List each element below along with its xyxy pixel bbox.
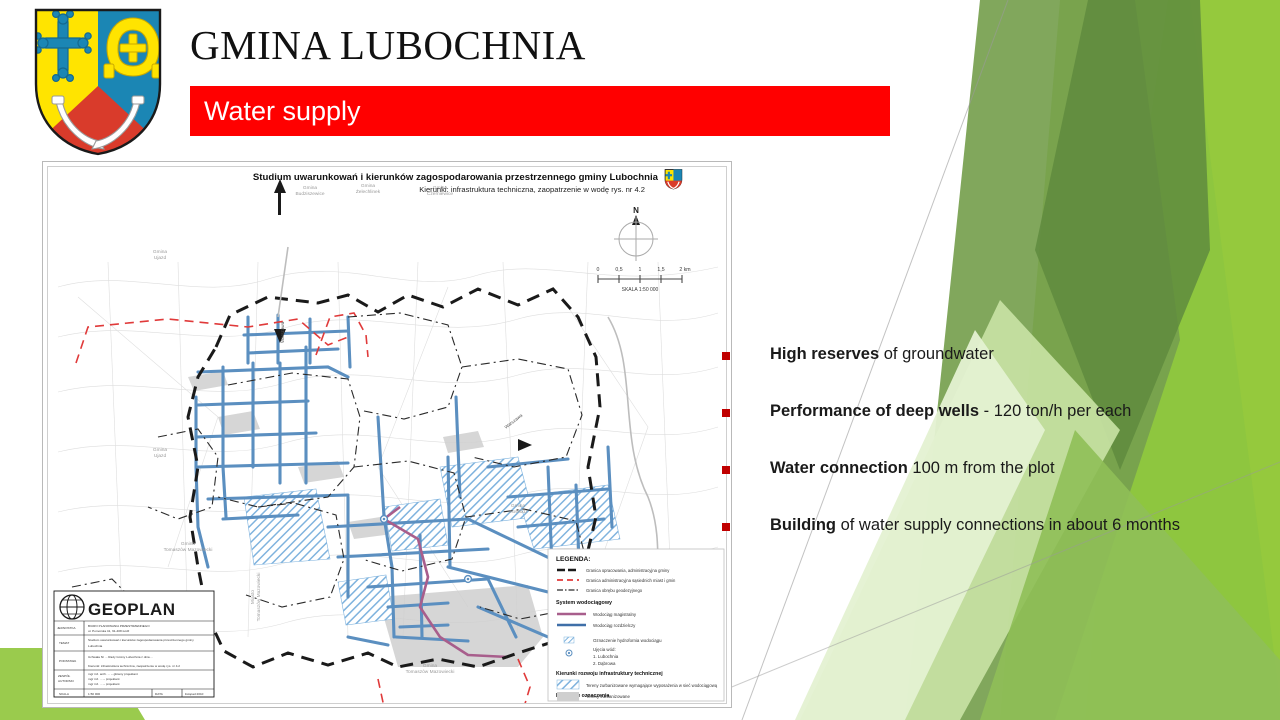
svg-text:JEDNOSTKA: JEDNOSTKA — [57, 626, 77, 630]
geoplan-logo-text: GEOPLAN — [88, 600, 176, 619]
svg-text:1:50 000: 1:50 000 — [88, 692, 100, 696]
svg-text:Warszawa: Warszawa — [280, 321, 285, 343]
bullet-rest: 100 m from the plot — [908, 459, 1055, 477]
svg-text:Granica opracowania, administr: Granica opracowania, administracyjna gmi… — [586, 568, 670, 573]
svg-text:BIURO PLANOWANIA PRZESTRZENNEG: BIURO PLANOWANIA PRZESTRZENNEGO — [88, 624, 150, 628]
svg-text:mgr inż. ... – projektant: mgr inż. ... – projektant — [88, 682, 120, 686]
svg-text:Miasto: Miasto — [250, 590, 256, 604]
list-item: Performance of deep wells - 120 ton/h pe… — [722, 401, 1267, 422]
svg-text:Ujęcia wód:: Ujęcia wód: — [593, 647, 616, 652]
bullet-square-icon — [722, 352, 730, 360]
svg-text:2 km: 2 km — [679, 267, 690, 273]
map-legend: LEGENDA: Granica opracowania, administra… — [548, 549, 724, 701]
map-drawing: Warszawa Warszawa Radom Piotrków GminaBu… — [48, 167, 726, 703]
coat-of-arms — [28, 6, 168, 158]
map-subtitle-text: Kierunki: infrastruktura techniczna, zao… — [419, 185, 645, 194]
svg-text:Oznaczenie hydrofornia wodocią: Oznaczenie hydrofornia wodociągu — [593, 638, 662, 643]
svg-text:0,5: 0,5 — [615, 267, 622, 273]
svg-text:PODSTAWA: PODSTAWA — [59, 659, 77, 663]
map-title-text: Studium uwarunkowań i kierunków zagospod… — [253, 172, 659, 183]
svg-text:Tomaszów Mazowiecki: Tomaszów Mazowiecki — [256, 573, 262, 622]
svg-text:mgr inż. ... – projektant: mgr inż. ... – projektant — [88, 677, 120, 681]
legend-heading: LEGENDA: — [556, 556, 590, 563]
bullet-text: Water connection 100 m from the plot — [770, 458, 1055, 479]
map-canvas[interactable]: Warszawa Warszawa Radom Piotrków GminaBu… — [47, 166, 727, 704]
svg-text:2. Dąbrowa: 2. Dąbrowa — [593, 661, 616, 666]
svg-text:Gmina: Gmina — [423, 663, 437, 669]
bullet-rest: of groundwater — [879, 345, 994, 363]
list-item: Building of water supply connections in … — [722, 515, 1267, 536]
legend-group-water-heading: System wodociągowy — [556, 600, 612, 606]
bullet-rest: - 120 ton/h per each — [979, 402, 1131, 420]
bullet-square-icon — [722, 466, 730, 474]
list-item: Water connection 100 m from the plot — [722, 458, 1267, 479]
svg-text:Tomaszów Mazowiecki: Tomaszów Mazowiecki — [164, 547, 213, 553]
bullet-square-icon — [722, 409, 730, 417]
bullet-text: Building of water supply connections in … — [770, 515, 1180, 536]
bullet-rest: of water supply connections in about 6 m… — [836, 516, 1180, 534]
svg-text:TEMAT: TEMAT — [59, 641, 69, 645]
svg-text:ZESPÓŁ: ZESPÓŁ — [58, 673, 70, 678]
legend-urbanised-row: Tereny zurbanizowane — [557, 692, 630, 701]
map-stamp-block: GEOPLAN JEDNOSTKA BIURO PLANOWANIA PRZES… — [54, 591, 214, 697]
svg-text:Ujazd: Ujazd — [154, 453, 167, 459]
svg-text:Gmina: Gmina — [181, 541, 195, 547]
scale-caption: SKALA 1:50 000 — [622, 287, 659, 293]
legend-urbanised-label: Tereny zurbanizowane — [586, 694, 630, 699]
svg-text:Studium uwarunkowań i kierunkó: Studium uwarunkowań i kierunków zagospod… — [88, 638, 194, 642]
svg-text:0: 0 — [597, 267, 600, 273]
svg-text:Inowłódz: Inowłódz — [509, 509, 529, 515]
svg-text:Budziszewice: Budziszewice — [295, 191, 324, 197]
svg-text:listopad 2010: listopad 2010 — [185, 692, 204, 696]
svg-text:mgr inż. arch. ... – główny pr: mgr inż. arch. ... – główny projektant — [88, 672, 138, 676]
bullet-text: Performance of deep wells - 120 ton/h pe… — [770, 401, 1131, 422]
svg-text:Gmina: Gmina — [511, 503, 525, 509]
svg-text:Gmina: Gmina — [153, 249, 167, 255]
svg-text:Tomaszów Mazowiecki: Tomaszów Mazowiecki — [406, 669, 455, 675]
bullet-square-icon — [722, 523, 730, 531]
svg-text:Lubochnia: Lubochnia — [88, 644, 103, 648]
svg-text:Wodociąg magistralny: Wodociąg magistralny — [593, 612, 637, 617]
map-crest-icon — [665, 170, 682, 189]
bullet-list: High reserves of groundwater Performance… — [722, 344, 1267, 572]
bullet-strong: Building — [770, 516, 836, 534]
svg-text:Kierunki: infrastruktura techn: Kierunki: infrastruktura techniczna, zao… — [88, 664, 180, 668]
north-label: N — [633, 206, 639, 215]
svg-text:1,5: 1,5 — [657, 267, 664, 273]
svg-text:Ujazd: Ujazd — [154, 255, 167, 261]
legend-group-dev-heading: Kierunki rozwoju infrastruktury technicz… — [556, 671, 663, 677]
page-title: GMINA LUBOCHNIA — [190, 22, 586, 68]
svg-text:DATA: DATA — [155, 692, 164, 696]
svg-text:1. Lubochnia: 1. Lubochnia — [593, 654, 619, 659]
bullet-text: High reserves of groundwater — [770, 344, 994, 365]
svg-text:Żelechlinek: Żelechlinek — [356, 188, 381, 195]
map-figure[interactable]: Warszawa Warszawa Radom Piotrków GminaBu… — [42, 161, 732, 708]
svg-text:Wodociąg rozdzielczy: Wodociąg rozdzielczy — [593, 623, 636, 628]
bullet-strong: Performance of deep wells — [770, 402, 979, 420]
list-item: High reserves of groundwater — [722, 344, 1267, 365]
svg-text:AUTORSKI: AUTORSKI — [58, 679, 74, 683]
legend-swatch-grey — [557, 692, 579, 701]
section-banner-label: Water supply — [204, 94, 361, 128]
svg-text:Uchwała Nr ... Rady Gminy Lubo: Uchwała Nr ... Rady Gminy Lubochnia z dn… — [88, 655, 153, 659]
svg-text:Granica obrębu geodezyjnego: Granica obrębu geodezyjnego — [586, 588, 643, 593]
svg-text:Gmina: Gmina — [153, 447, 167, 453]
svg-text:ul. Pomorska 41, 91-408 Łódź: ul. Pomorska 41, 91-408 Łódź — [88, 629, 130, 633]
section-banner: Water supply — [190, 86, 890, 136]
bullet-strong: High reserves — [770, 345, 879, 363]
bullet-strong: Water connection — [770, 459, 908, 477]
svg-text:Gmina: Gmina — [303, 185, 317, 191]
svg-text:Granica administracyjna sąsied: Granica administracyjna sąsiednich miast… — [586, 578, 676, 583]
svg-text:SKALA: SKALA — [59, 692, 70, 696]
svg-text:Tereny zurbanizowane wymagając: Tereny zurbanizowane wymagające wyposaże… — [586, 683, 718, 688]
svg-text:1: 1 — [639, 267, 642, 273]
svg-text:Gmina: Gmina — [361, 183, 375, 189]
